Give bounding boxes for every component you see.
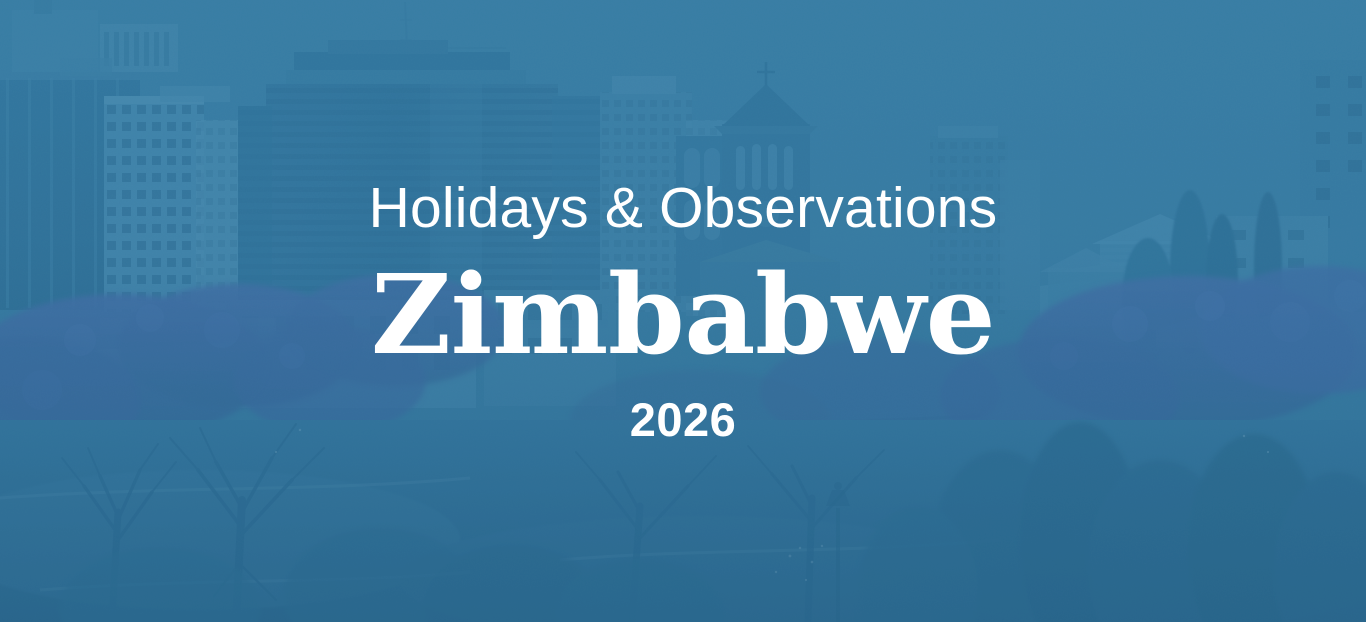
hero-text-stack: Holidays & Observations Zimbabwe 2026: [0, 0, 1366, 622]
hero-subtitle: Holidays & Observations: [369, 179, 998, 239]
page-title-country: Zimbabwe: [371, 260, 995, 370]
hero-banner: Holidays & Observations Zimbabwe 2026: [0, 0, 1366, 622]
hero-year: 2026: [630, 396, 737, 443]
